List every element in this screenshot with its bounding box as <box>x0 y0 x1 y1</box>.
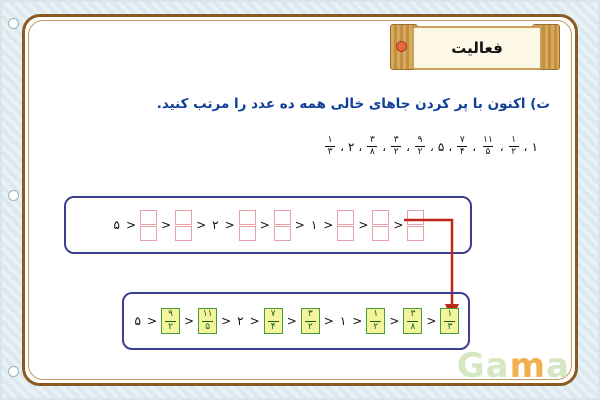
sequence-fraction: ۱۲ <box>508 136 520 157</box>
fraction-denominator: ۵ <box>484 148 493 157</box>
filled-answer-cell: ۱۳ <box>440 308 459 334</box>
fraction-numerator: ۱ <box>373 310 378 319</box>
fraction-denominator: ۲ <box>509 148 518 157</box>
sequence-separator: ، <box>448 140 452 154</box>
binder-hole <box>8 366 19 377</box>
fraction-denominator: ۴ <box>458 148 467 157</box>
blank-answer-cell[interactable] <box>239 210 256 241</box>
banner-title: فعالیت <box>451 39 503 57</box>
filled-answer-cell: ۹۲ <box>161 308 180 334</box>
less-than-sign: < <box>425 314 437 328</box>
sequence-separator: ، <box>500 140 504 154</box>
fraction-denominator: ۲ <box>308 323 313 332</box>
less-than-sign: < <box>224 218 236 232</box>
less-than-sign: < <box>388 314 400 328</box>
sequence-separator: ، <box>406 140 410 154</box>
fraction-numerator: ۱۱ <box>203 310 213 319</box>
sequence-separator: ، <box>382 140 386 154</box>
less-than-sign: < <box>125 218 137 232</box>
fraction-numerator: ۹ <box>416 136 425 145</box>
fraction-numerator: ۳ <box>308 310 313 319</box>
blank-answer-cell[interactable] <box>274 210 291 241</box>
blank-numerator-box[interactable] <box>372 210 389 225</box>
blank-answer-cell[interactable] <box>175 210 192 241</box>
fraction-denominator: ۸ <box>368 148 377 157</box>
less-than-sign: < <box>323 314 335 328</box>
fraction-numerator: ۷ <box>458 136 467 145</box>
binder-hole <box>8 190 19 201</box>
watermark-part2: m <box>510 346 546 386</box>
less-than-sign: < <box>322 218 334 232</box>
watermark: Gama <box>457 346 570 386</box>
less-than-sign: < <box>286 314 298 328</box>
sequence-number: ۵ <box>438 140 444 154</box>
blank-answer-cell[interactable] <box>337 210 354 241</box>
sequence-separator: ، <box>472 140 476 154</box>
instruction-text: ت) اکنون با پر کردن جاهای خالی همه ده عد… <box>50 96 550 112</box>
fraction-numerator: ۳ <box>392 136 401 145</box>
blank-denominator-box[interactable] <box>274 226 291 241</box>
blank-numerator-box[interactable] <box>175 210 192 225</box>
binder-hole <box>8 18 19 29</box>
fraction-denominator: ۲ <box>392 148 401 157</box>
sequence-separator: ، <box>340 140 344 154</box>
row-number: ۲ <box>210 218 220 232</box>
row-number: ۵ <box>112 218 122 232</box>
watermark-part1: Ga <box>457 346 510 386</box>
pin-icon <box>396 41 407 52</box>
fraction-denominator: ۲ <box>373 323 378 332</box>
less-than-sign: < <box>146 314 158 328</box>
sequence-separator: ، <box>430 140 434 154</box>
fraction-numerator: ۳ <box>368 136 377 145</box>
fraction-denominator: ۲ <box>168 323 173 332</box>
less-than-sign: < <box>357 218 369 232</box>
filled-answer-cell: ۱۱۵ <box>198 308 217 334</box>
less-than-sign: < <box>220 314 232 328</box>
fraction-sequence: ۱،۱۲،۱۱۵،۷۴،۵،۹۲،۳۲،۳۸،۲،۱۳ <box>324 136 538 157</box>
filled-answer-cell: ۱۲ <box>366 308 385 334</box>
fraction-numerator: ۱ <box>509 136 518 145</box>
sequence-fraction: ۳۲ <box>390 136 402 157</box>
filled-answer-cell: ۷۴ <box>264 308 283 334</box>
filled-row-contents: ۱۳<۳۸<۱۲<۱<۳۲<۷۴<۲<۱۱۵<۹۲<۵ <box>133 308 460 334</box>
row-number: ۱ <box>338 314 348 328</box>
fraction-numerator: ۹ <box>168 310 173 319</box>
blank-numerator-box[interactable] <box>140 210 157 225</box>
slide-page: فعالیت ت) اکنون با پر کردن جاهای خالی هم… <box>0 0 600 400</box>
sequence-fraction: ۷۴ <box>456 136 468 157</box>
sequence-number: ۱ <box>532 140 538 154</box>
fraction-denominator: ۸ <box>410 323 415 332</box>
sequence-separator: ، <box>524 140 528 154</box>
sequence-fraction: ۱۳ <box>324 136 336 157</box>
fraction-denominator: ۵ <box>205 323 210 332</box>
blank-answer-cell[interactable] <box>140 210 157 241</box>
watermark-part3: a <box>546 346 570 386</box>
fraction-denominator: ۴ <box>271 323 276 332</box>
row-number: ۲ <box>235 314 245 328</box>
sequence-fraction: ۳۸ <box>366 136 378 157</box>
fraction-numerator: ۷ <box>271 310 276 319</box>
blank-denominator-box[interactable] <box>175 226 192 241</box>
blank-answer-cell[interactable] <box>372 210 389 241</box>
row-number: ۵ <box>133 314 143 328</box>
blank-numerator-box[interactable] <box>337 210 354 225</box>
sequence-number: ۲ <box>348 140 354 154</box>
less-than-sign: < <box>294 218 306 232</box>
less-than-sign: < <box>259 218 271 232</box>
less-than-sign: < <box>249 314 261 328</box>
fraction-denominator: ۳ <box>448 323 453 332</box>
fraction-numerator: ۱ <box>448 310 453 319</box>
empty-row-contents: <<<۱<<<۲<<<۵ <box>112 210 425 241</box>
filled-answer-cell: ۳۲ <box>301 308 320 334</box>
fraction-numerator: ۱ <box>326 136 335 145</box>
sequence-separator: ، <box>358 140 362 154</box>
filled-answer-row[interactable]: ۱۳<۳۸<۱۲<۱<۳۲<۷۴<۲<۱۱۵<۹۲<۵ <box>122 292 470 350</box>
blank-denominator-box[interactable] <box>239 226 256 241</box>
banner-body: فعالیت <box>412 26 542 70</box>
fraction-denominator: ۳ <box>326 148 335 157</box>
less-than-sign: < <box>160 218 172 232</box>
blank-numerator-box[interactable] <box>239 210 256 225</box>
filled-answer-cell: ۳۸ <box>403 308 422 334</box>
blank-denominator-box[interactable] <box>337 226 354 241</box>
row-number: ۱ <box>309 218 319 232</box>
fraction-numerator: ۳ <box>410 310 415 319</box>
blank-denominator-box[interactable] <box>140 226 157 241</box>
activity-banner: فعالیت <box>390 24 560 68</box>
sequence-fraction: ۱۱۵ <box>480 136 496 157</box>
sequence-fraction: ۹۲ <box>414 136 426 157</box>
blank-numerator-box[interactable] <box>274 210 291 225</box>
less-than-sign: < <box>183 314 195 328</box>
fraction-numerator: ۱۱ <box>481 136 495 145</box>
less-than-sign: < <box>195 218 207 232</box>
less-than-sign: < <box>351 314 363 328</box>
blank-denominator-box[interactable] <box>372 226 389 241</box>
fraction-denominator: ۲ <box>416 148 425 157</box>
